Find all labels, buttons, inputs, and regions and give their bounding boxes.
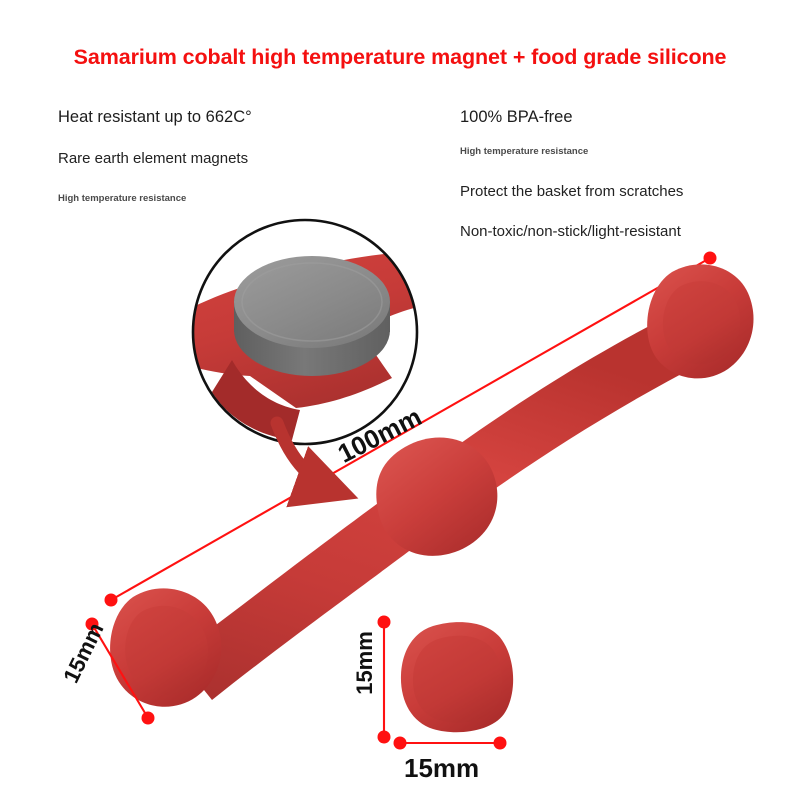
magnet-hub <box>376 438 497 556</box>
product-infographic: Samarium cobalt high temperature magnet … <box>0 0 800 800</box>
magnet-callout <box>150 220 478 444</box>
dimension-label-pad-height: 15mm <box>352 631 378 695</box>
pad-detail-view <box>401 622 513 732</box>
product-illustration <box>0 0 800 800</box>
strap-pad-right <box>647 264 753 378</box>
dimension-pad-width-15mm <box>394 737 507 750</box>
dimension-label-pad-width: 15mm <box>404 753 479 784</box>
strap-pad-left <box>110 588 221 706</box>
dimension-pad-height-15mm <box>378 616 391 744</box>
